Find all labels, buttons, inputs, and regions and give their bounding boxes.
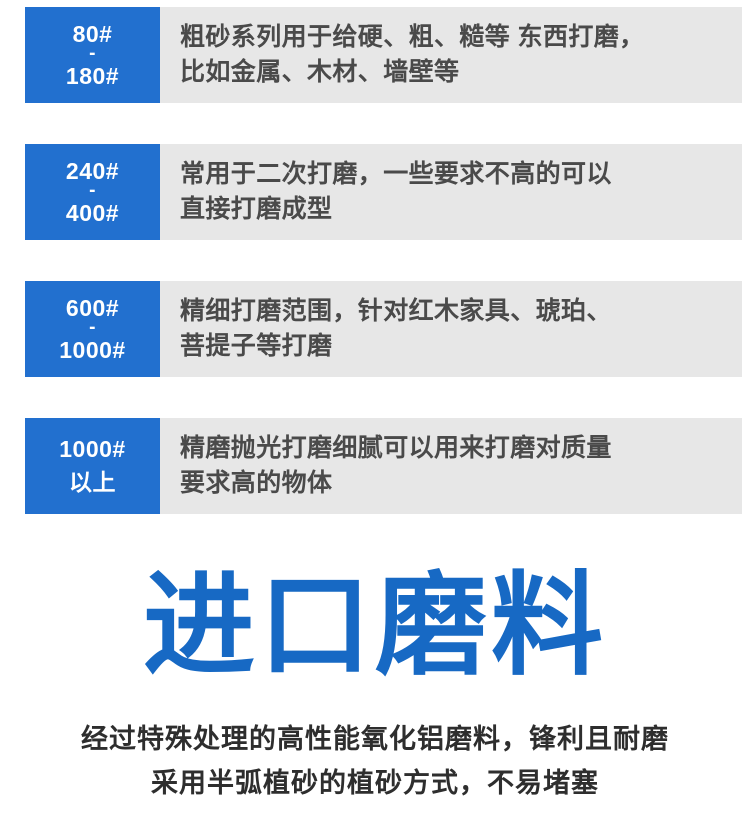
grit-description-line: 精细打磨范围，针对红木家具、琥珀、 (180, 294, 734, 330)
grit-range-badge: 1000# 以上 (25, 418, 160, 514)
grit-description: 粗砂系列用于给硬、粗、糙等 东西打磨， 比如金属、木材、墙壁等 (160, 7, 742, 103)
hero-subtitle-line: 采用半弧植砂的植砂方式，不易堵塞 (0, 762, 750, 806)
grit-range-top: 1000# (59, 433, 125, 466)
grit-range-badge: 80# - 180# (25, 7, 160, 103)
grit-range-bottom: 400# (66, 200, 119, 226)
hero-subtitle-line: 经过特殊处理的高性能氧化铝磨料，锋利且耐磨 (0, 718, 750, 762)
grit-range-separator: - (89, 186, 96, 196)
table-row: 1000# 以上 精磨抛光打磨细腻可以用来打磨对质量 要求高的物体 (25, 418, 742, 514)
grit-description: 常用于二次打磨，一些要求不高的可以 直接打磨成型 (160, 144, 742, 240)
grit-description-line: 要求高的物体 (180, 466, 734, 502)
grit-range-separator: - (89, 49, 96, 59)
grit-range-badge: 600# - 1000# (25, 281, 160, 377)
grit-description: 精磨抛光打磨细腻可以用来打磨对质量 要求高的物体 (160, 418, 742, 514)
grit-range-badge: 240# - 400# (25, 144, 160, 240)
table-row: 80# - 180# 粗砂系列用于给硬、粗、糙等 东西打磨， 比如金属、木材、墙… (25, 7, 742, 103)
hero-section: 进口磨料 经过特殊处理的高性能氧化铝磨料，锋利且耐磨 采用半弧植砂的植砂方式，不… (0, 570, 750, 805)
grit-range-bottom: 180# (66, 63, 119, 89)
grit-description-line: 粗砂系列用于给硬、粗、糙等 东西打磨， (180, 20, 734, 56)
grit-description-line: 菩提子等打磨 (180, 329, 734, 365)
table-row: 240# - 400# 常用于二次打磨，一些要求不高的可以 直接打磨成型 (25, 144, 742, 240)
hero-subtitle: 经过特殊处理的高性能氧化铝磨料，锋利且耐磨 采用半弧植砂的植砂方式，不易堵塞 (0, 718, 750, 805)
grit-range-bottom: 1000# (59, 337, 125, 363)
grit-range-bottom: 以上 (69, 466, 116, 499)
grit-range-separator: - (89, 323, 96, 333)
grit-description-line: 精磨抛光打磨细腻可以用来打磨对质量 (180, 431, 734, 467)
grit-spec-table: 80# - 180# 粗砂系列用于给硬、粗、糙等 东西打磨， 比如金属、木材、墙… (0, 0, 750, 514)
grit-description: 精细打磨范围，针对红木家具、琥珀、 菩提子等打磨 (160, 281, 742, 377)
grit-description-line: 常用于二次打磨，一些要求不高的可以 (180, 157, 734, 193)
grit-description-line: 直接打磨成型 (180, 192, 734, 228)
page-title: 进口磨料 (0, 570, 750, 682)
grit-description-line: 比如金属、木材、墙壁等 (180, 55, 734, 91)
table-row: 600# - 1000# 精细打磨范围，针对红木家具、琥珀、 菩提子等打磨 (25, 281, 742, 377)
